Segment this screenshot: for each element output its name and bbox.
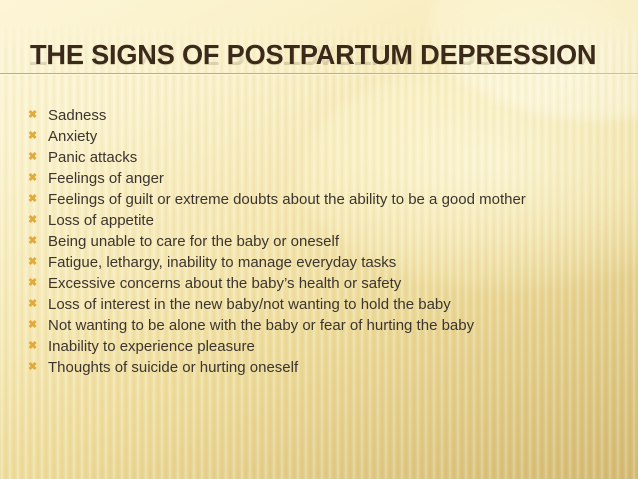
list-item: ✖Inability to experience pleasure [28,336,628,357]
list-item-label: Loss of interest in the new baby/not wan… [48,294,628,315]
list-item-label: Sadness [48,105,628,126]
cross-bullet-icon: ✖ [28,147,48,168]
list-item: ✖Feelings of anger [28,168,628,189]
list-item-label: Feelings of anger [48,168,628,189]
list-item-label: Anxiety [48,126,628,147]
list-item-label: Not wanting to be alone with the baby or… [48,315,628,336]
cross-bullet-icon: ✖ [28,252,48,273]
cross-bullet-icon: ✖ [28,273,48,294]
list-item-label: Feelings of guilt or extreme doubts abou… [48,189,628,210]
cross-bullet-icon: ✖ [28,336,48,357]
cross-bullet-icon: ✖ [28,294,48,315]
cross-bullet-icon: ✖ [28,210,48,231]
list-item-label: Loss of appetite [48,210,628,231]
cross-bullet-icon: ✖ [28,126,48,147]
slide-title: THE SIGNS OF POSTPARTUM DEPRESSION [30,38,596,72]
list-item-label: Thoughts of suicide or hurting oneself [48,357,628,378]
cross-bullet-icon: ✖ [28,105,48,126]
list-item: ✖Excessive concerns about the baby’s hea… [28,273,628,294]
slide-canvas: THE SIGNS OF POSTPARTUM DEPRESSION THE S… [0,0,638,479]
list-item: ✖Sadness [28,105,628,126]
list-item: ✖Panic attacks [28,147,628,168]
slide-title-block: THE SIGNS OF POSTPARTUM DEPRESSION THE S… [0,38,638,100]
list-item: ✖Not wanting to be alone with the baby o… [28,315,628,336]
list-item: ✖Anxiety [28,126,628,147]
bullet-list: ✖Sadness✖Anxiety✖Panic attacks✖Feelings … [28,105,628,378]
list-item-label: Inability to experience pleasure [48,336,628,357]
list-item-label: Panic attacks [48,147,628,168]
list-item-label: Fatigue, lethargy, inability to manage e… [48,252,628,273]
list-item: ✖Being unable to care for the baby or on… [28,231,628,252]
cross-bullet-icon: ✖ [28,189,48,210]
list-item-label: Being unable to care for the baby or one… [48,231,628,252]
cross-bullet-icon: ✖ [28,168,48,189]
list-item: ✖Thoughts of suicide or hurting oneself [28,357,628,378]
list-item: ✖Loss of appetite [28,210,628,231]
list-item: ✖Feelings of guilt or extreme doubts abo… [28,189,628,210]
list-item: ✖Loss of interest in the new baby/not wa… [28,294,628,315]
cross-bullet-icon: ✖ [28,315,48,336]
list-item: ✖Fatigue, lethargy, inability to manage … [28,252,628,273]
list-item-label: Excessive concerns about the baby’s heal… [48,273,628,294]
cross-bullet-icon: ✖ [28,357,48,378]
title-divider-highlight [0,74,638,75]
cross-bullet-icon: ✖ [28,231,48,252]
